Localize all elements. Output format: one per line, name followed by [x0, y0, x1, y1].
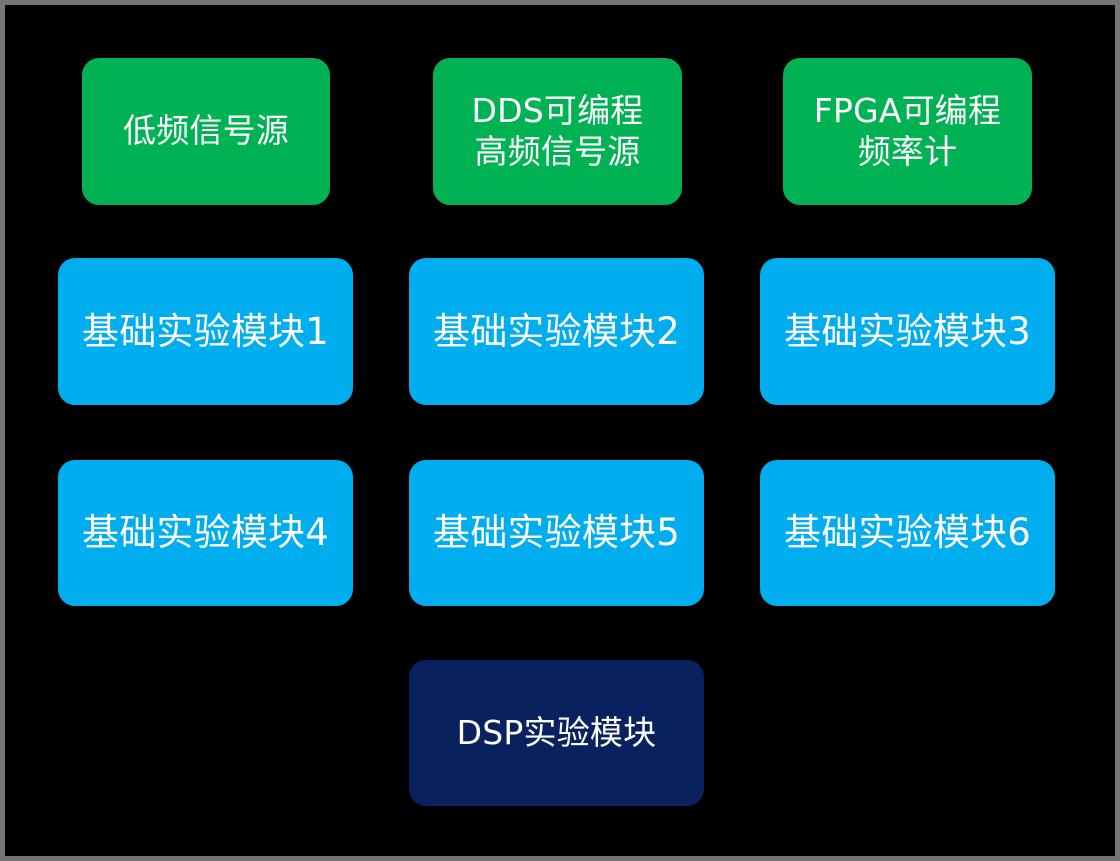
diagram-canvas: 低频信号源DDS可编程 高频信号源FPGA可编程 频率计基础实验模块1基础实验模…	[5, 5, 1115, 856]
node-label-basic-experiment-module-4: 基础实验模块4	[58, 510, 353, 556]
node-basic-experiment-module-1[interactable]: 基础实验模块1	[58, 258, 353, 405]
node-low-frequency-signal-source[interactable]: 低频信号源	[82, 58, 330, 205]
node-basic-experiment-module-5[interactable]: 基础实验模块5	[409, 460, 704, 606]
node-label-basic-experiment-module-3: 基础实验模块3	[760, 309, 1055, 355]
node-label-dds-programmable-high-frequency-signal-source: DDS可编程 高频信号源	[433, 91, 682, 173]
node-label-basic-experiment-module-1: 基础实验模块1	[58, 309, 353, 355]
node-label-fpga-programmable-frequency-counter: FPGA可编程 频率计	[783, 91, 1032, 173]
node-basic-experiment-module-4[interactable]: 基础实验模块4	[58, 460, 353, 606]
node-basic-experiment-module-6[interactable]: 基础实验模块6	[760, 460, 1055, 606]
diagram-frame: 低频信号源DDS可编程 高频信号源FPGA可编程 频率计基础实验模块1基础实验模…	[0, 0, 1120, 861]
node-dds-programmable-high-frequency-signal-source[interactable]: DDS可编程 高频信号源	[433, 58, 682, 205]
node-dsp-experiment-module[interactable]: DSP实验模块	[409, 660, 704, 806]
node-label-basic-experiment-module-6: 基础实验模块6	[760, 510, 1055, 556]
node-basic-experiment-module-2[interactable]: 基础实验模块2	[409, 258, 704, 405]
node-label-basic-experiment-module-5: 基础实验模块5	[409, 510, 704, 556]
node-basic-experiment-module-3[interactable]: 基础实验模块3	[760, 258, 1055, 405]
node-label-basic-experiment-module-2: 基础实验模块2	[409, 309, 704, 355]
node-fpga-programmable-frequency-counter[interactable]: FPGA可编程 频率计	[783, 58, 1032, 205]
node-label-low-frequency-signal-source: 低频信号源	[82, 111, 330, 152]
node-label-dsp-experiment-module: DSP实验模块	[409, 713, 704, 754]
